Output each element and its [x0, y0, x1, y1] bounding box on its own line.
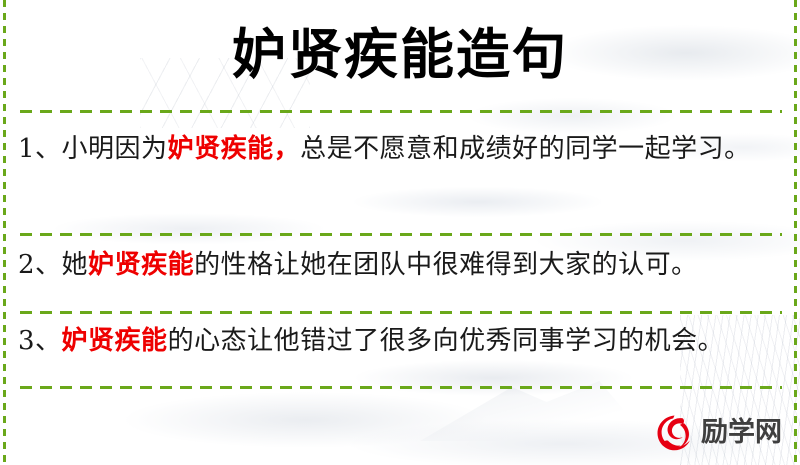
- dashed-separator-4: [20, 386, 782, 389]
- sentence-text-after-2: 的性格让她在团队中很难得到大家的认可。: [194, 250, 698, 280]
- flame-swirl-icon: [654, 413, 694, 453]
- page-title: 妒贤疾能造句: [0, 18, 800, 90]
- dashed-separator-2: [20, 233, 782, 236]
- dashed-separator-1: [20, 110, 782, 113]
- sentence-index-3: 3、: [18, 326, 62, 356]
- sentence-item-3: 3、妒贤疾能的心态让他错过了很多向优秀同事学习的机会。: [18, 320, 770, 362]
- sentence-text-before-1: 小明因为: [62, 134, 168, 164]
- sentence-item-1: 1、小明因为妒贤疾能，总是不愿意和成绩好的同学一起学习。: [18, 128, 770, 170]
- sentence-text-after-3: 的心态让他错过了很多向优秀同事学习的机会。: [168, 326, 725, 356]
- sentence-index-2: 2、: [18, 250, 62, 280]
- sentence-item-2: 2、她妒贤疾能的性格让她在团队中很难得到大家的认可。: [18, 244, 770, 286]
- ink-wash-decoration-mountain: [420, 381, 650, 441]
- dashed-separator-3: [20, 311, 782, 314]
- site-logo-text: 励学网: [701, 418, 782, 448]
- keyword-highlight-3: 妒贤疾能: [62, 326, 168, 356]
- keyword-highlight-1: 妒贤疾能，: [168, 134, 301, 164]
- sentence-text-after-1: 总是不愿意和成绩好的同学一起学习。: [300, 134, 751, 164]
- sentence-text-before-2: 她: [62, 250, 89, 280]
- sentence-index-1: 1、: [18, 134, 62, 164]
- site-logo[interactable]: 励学网: [654, 411, 782, 455]
- page-root: 妒贤疾能造句 1、小明因为妒贤疾能，总是不愿意和成绩好的同学一起学习。 2、她妒…: [0, 0, 800, 465]
- keyword-highlight-2: 妒贤疾能: [88, 250, 194, 280]
